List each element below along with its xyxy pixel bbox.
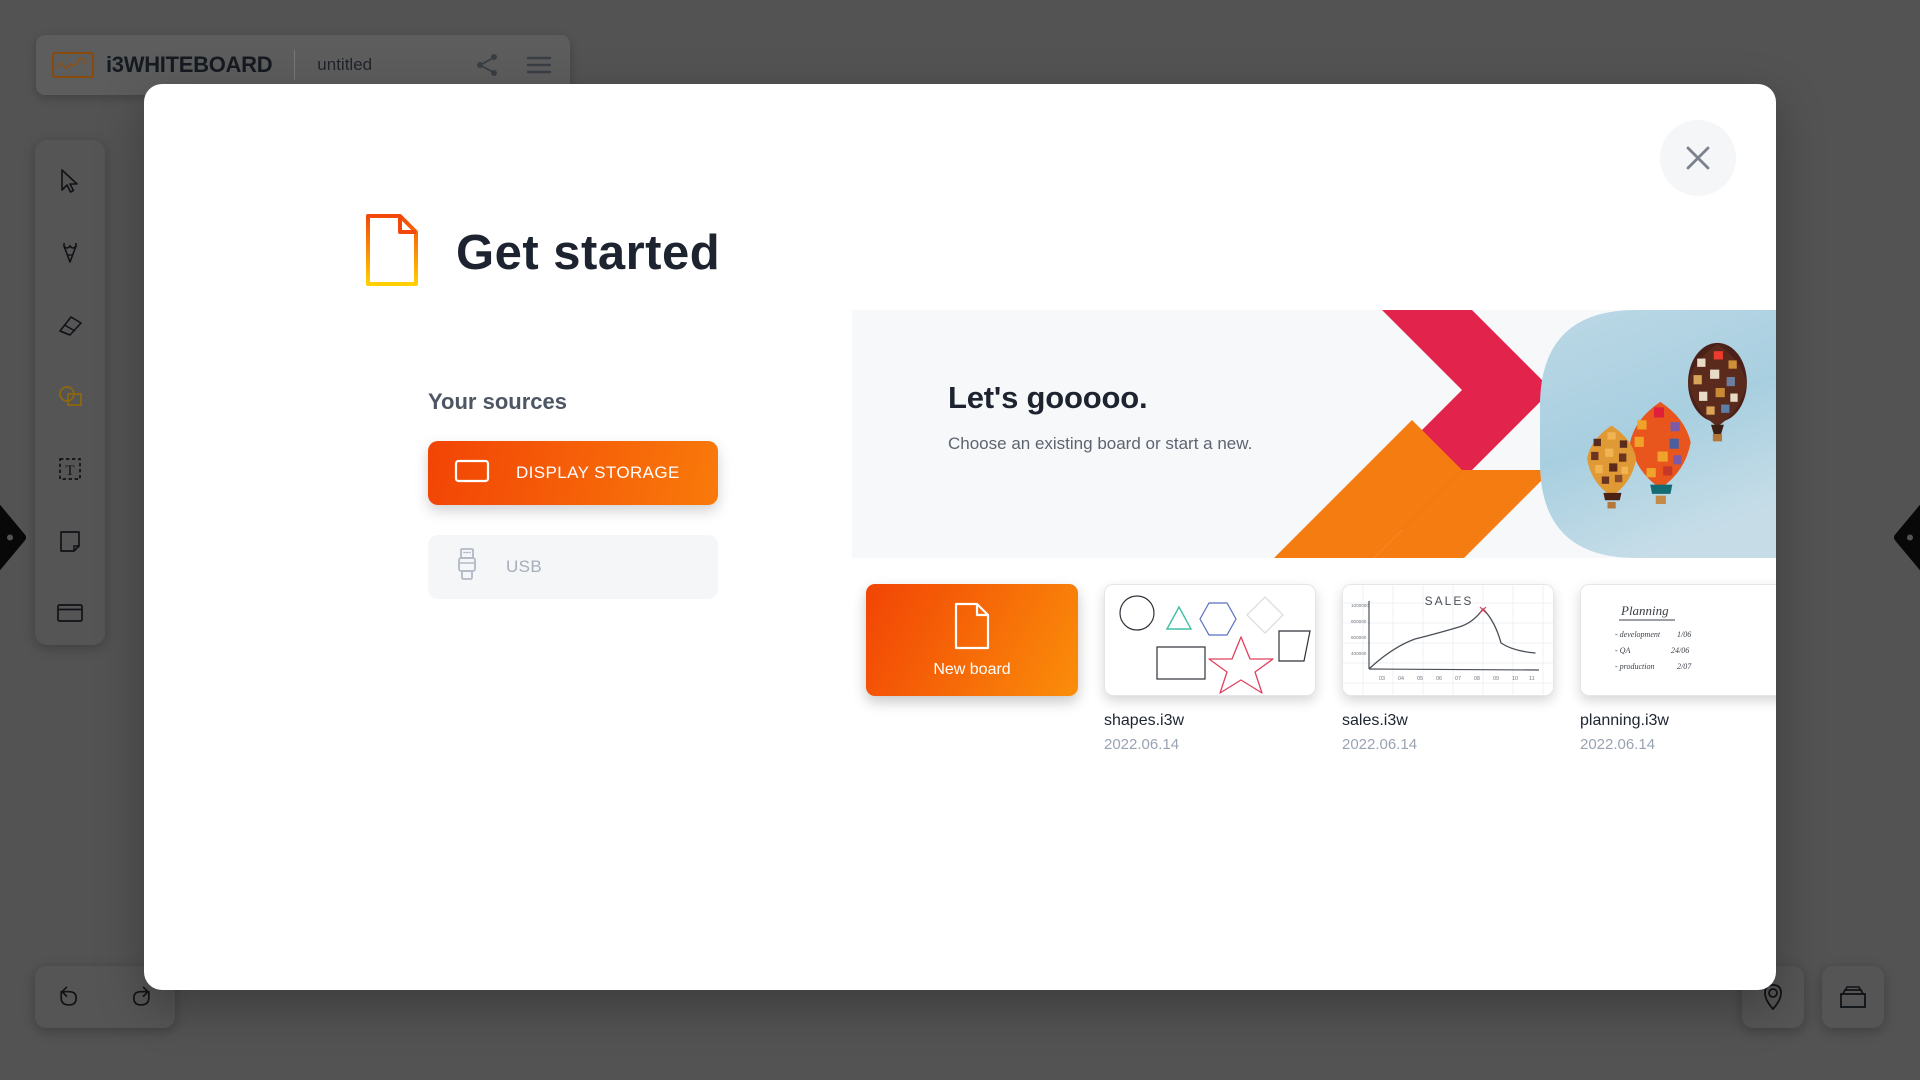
dialog-header: Get started bbox=[364, 212, 720, 293]
board-date: 2022.06.14 bbox=[1580, 736, 1776, 753]
svg-text:400000: 400000 bbox=[1351, 651, 1367, 656]
shapes-sketch-thumbnail[interactable] bbox=[1104, 584, 1316, 696]
sources-panel: Your sources DISPLAY STORAGE bbox=[428, 389, 718, 629]
svg-text:24/06: 24/06 bbox=[1671, 646, 1689, 655]
board-card-planning[interactable]: Planning - development 1/06 - QA 24/06 -… bbox=[1580, 584, 1776, 753]
svg-text:Planning: Planning bbox=[1620, 603, 1669, 618]
svg-text:05: 05 bbox=[1417, 676, 1423, 682]
svg-text:03: 03 bbox=[1379, 676, 1385, 682]
board-name: sales.i3w bbox=[1342, 712, 1554, 730]
svg-text:SALES: SALES bbox=[1425, 594, 1474, 608]
usb-plug-icon bbox=[454, 547, 480, 588]
svg-text:11: 11 bbox=[1529, 676, 1535, 682]
svg-text:600000: 600000 bbox=[1351, 635, 1367, 640]
source-display-storage-button[interactable]: DISPLAY STORAGE bbox=[428, 441, 718, 505]
promo-banner: Let's gooooo. Choose an existing board o… bbox=[852, 310, 1776, 558]
svg-text:09: 09 bbox=[1493, 676, 1499, 682]
board-card-sales[interactable]: SALES 1000000800000 600000400000 030405 … bbox=[1342, 584, 1554, 753]
banner-subtext: Choose an existing board or start a new. bbox=[948, 432, 1252, 457]
board-name: shapes.i3w bbox=[1104, 712, 1316, 730]
board-list: New board shapes.i3w 2022.06. bbox=[866, 584, 1776, 753]
source-usb-button[interactable]: USB bbox=[428, 535, 718, 599]
svg-text:04: 04 bbox=[1398, 676, 1404, 682]
close-x-icon[interactable] bbox=[1660, 120, 1736, 196]
svg-text:10: 10 bbox=[1512, 676, 1518, 682]
app-root: i3WHITEBOARD untitled bbox=[0, 0, 1920, 1080]
svg-text:- development: - development bbox=[1615, 630, 1661, 639]
svg-text:2/07: 2/07 bbox=[1677, 662, 1692, 671]
sales-chart-sketch-thumbnail[interactable]: SALES 1000000800000 600000400000 030405 … bbox=[1342, 584, 1554, 696]
document-outline-icon bbox=[953, 601, 991, 651]
get-started-dialog: Get started Your sources DISPLAY STORAGE bbox=[144, 84, 1776, 990]
svg-text:800000: 800000 bbox=[1351, 619, 1367, 624]
banner-heading: Let's gooooo. bbox=[948, 380, 1252, 416]
source-usb-label: USB bbox=[506, 557, 542, 577]
svg-text:07: 07 bbox=[1455, 676, 1461, 682]
svg-text:- production: - production bbox=[1615, 662, 1654, 671]
board-date: 2022.06.14 bbox=[1104, 736, 1316, 753]
svg-text:06: 06 bbox=[1436, 676, 1442, 682]
board-name: planning.i3w bbox=[1580, 712, 1776, 730]
display-screen-icon bbox=[454, 458, 490, 489]
new-board-card-wrap: New board bbox=[866, 584, 1078, 753]
source-display-storage-label: DISPLAY STORAGE bbox=[516, 463, 680, 483]
svg-text:1000000: 1000000 bbox=[1351, 603, 1369, 608]
banner-text-block: Let's gooooo. Choose an existing board o… bbox=[948, 380, 1252, 457]
board-date: 2022.06.14 bbox=[1342, 736, 1554, 753]
svg-text:08: 08 bbox=[1474, 676, 1480, 682]
sources-label: Your sources bbox=[428, 389, 718, 415]
new-board-button[interactable]: New board bbox=[866, 584, 1078, 696]
svg-text:- QA: - QA bbox=[1615, 646, 1630, 655]
svg-text:1/06: 1/06 bbox=[1677, 630, 1691, 639]
planning-notes-sketch-thumbnail[interactable]: Planning - development 1/06 - QA 24/06 -… bbox=[1580, 584, 1776, 696]
board-card-shapes[interactable]: shapes.i3w 2022.06.14 bbox=[1104, 584, 1316, 753]
page-title: Get started bbox=[456, 225, 720, 281]
new-board-label: New board bbox=[933, 661, 1010, 679]
document-outline-icon bbox=[364, 212, 420, 293]
